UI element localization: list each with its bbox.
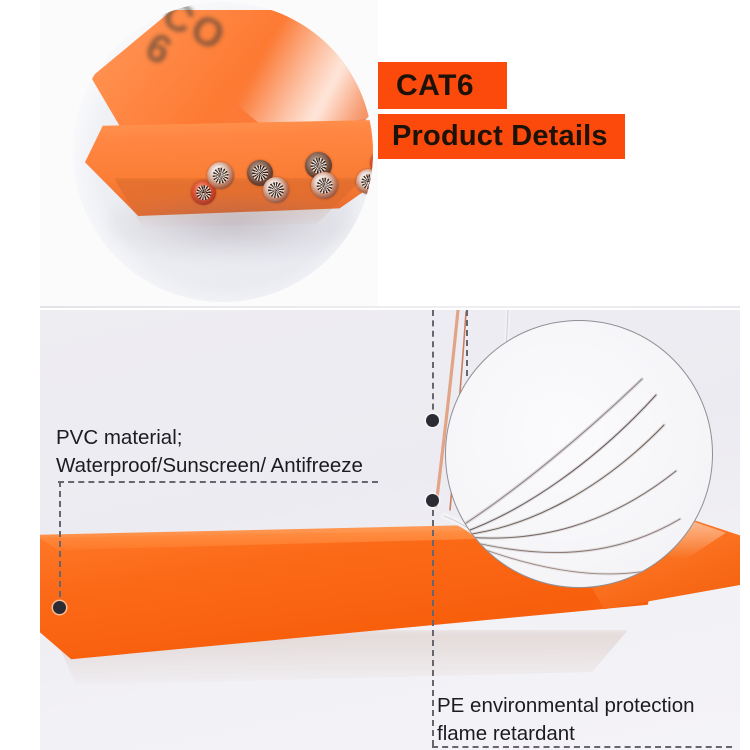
leader-conductor-vertical-a bbox=[432, 310, 434, 420]
conductor-2 bbox=[207, 162, 234, 189]
cable-cross-section-photo: CO 6 bbox=[40, 0, 378, 308]
callout-dot-pe bbox=[426, 494, 439, 507]
conductor-6 bbox=[311, 172, 338, 199]
callout-pvc-material: PVC material; Waterproof/Sunscreen/ Anti… bbox=[56, 424, 363, 480]
badge-product-details: Product Details bbox=[378, 114, 625, 159]
leader-pvc-horizontal bbox=[58, 481, 378, 483]
callout-pe-line-2: flame retardant bbox=[437, 720, 695, 748]
badge-cat6: CAT6 bbox=[378, 62, 507, 109]
leader-conductor-vertical-b bbox=[466, 310, 468, 376]
callout-pe-material: PE environmental protection flame retard… bbox=[437, 692, 695, 748]
leader-pe-horizontal bbox=[432, 746, 732, 748]
product-detail-image: CO 6 CAT6 Product Details bbox=[0, 0, 750, 750]
cable-ground-shadow bbox=[107, 198, 357, 260]
callout-dot-pvc bbox=[53, 601, 66, 614]
magnifier-circle-icon bbox=[445, 320, 713, 588]
panel-divider bbox=[40, 306, 740, 308]
leader-pe-vertical-lower bbox=[432, 500, 434, 746]
top-panel: CO 6 CAT6 Product Details bbox=[0, 0, 750, 308]
magnified-strands bbox=[446, 321, 712, 587]
bottom-panel bbox=[40, 310, 740, 750]
leader-pvc-vertical bbox=[59, 481, 61, 607]
callout-pe-line-1: PE environmental protection bbox=[437, 692, 695, 720]
cable-end-circular-photo: CO 6 bbox=[73, 2, 373, 302]
callout-dot-conductor bbox=[426, 414, 439, 427]
callout-pvc-line-2: Waterproof/Sunscreen/ Antifreeze bbox=[56, 452, 363, 480]
callout-pvc-line-1: PVC material; bbox=[56, 424, 363, 452]
